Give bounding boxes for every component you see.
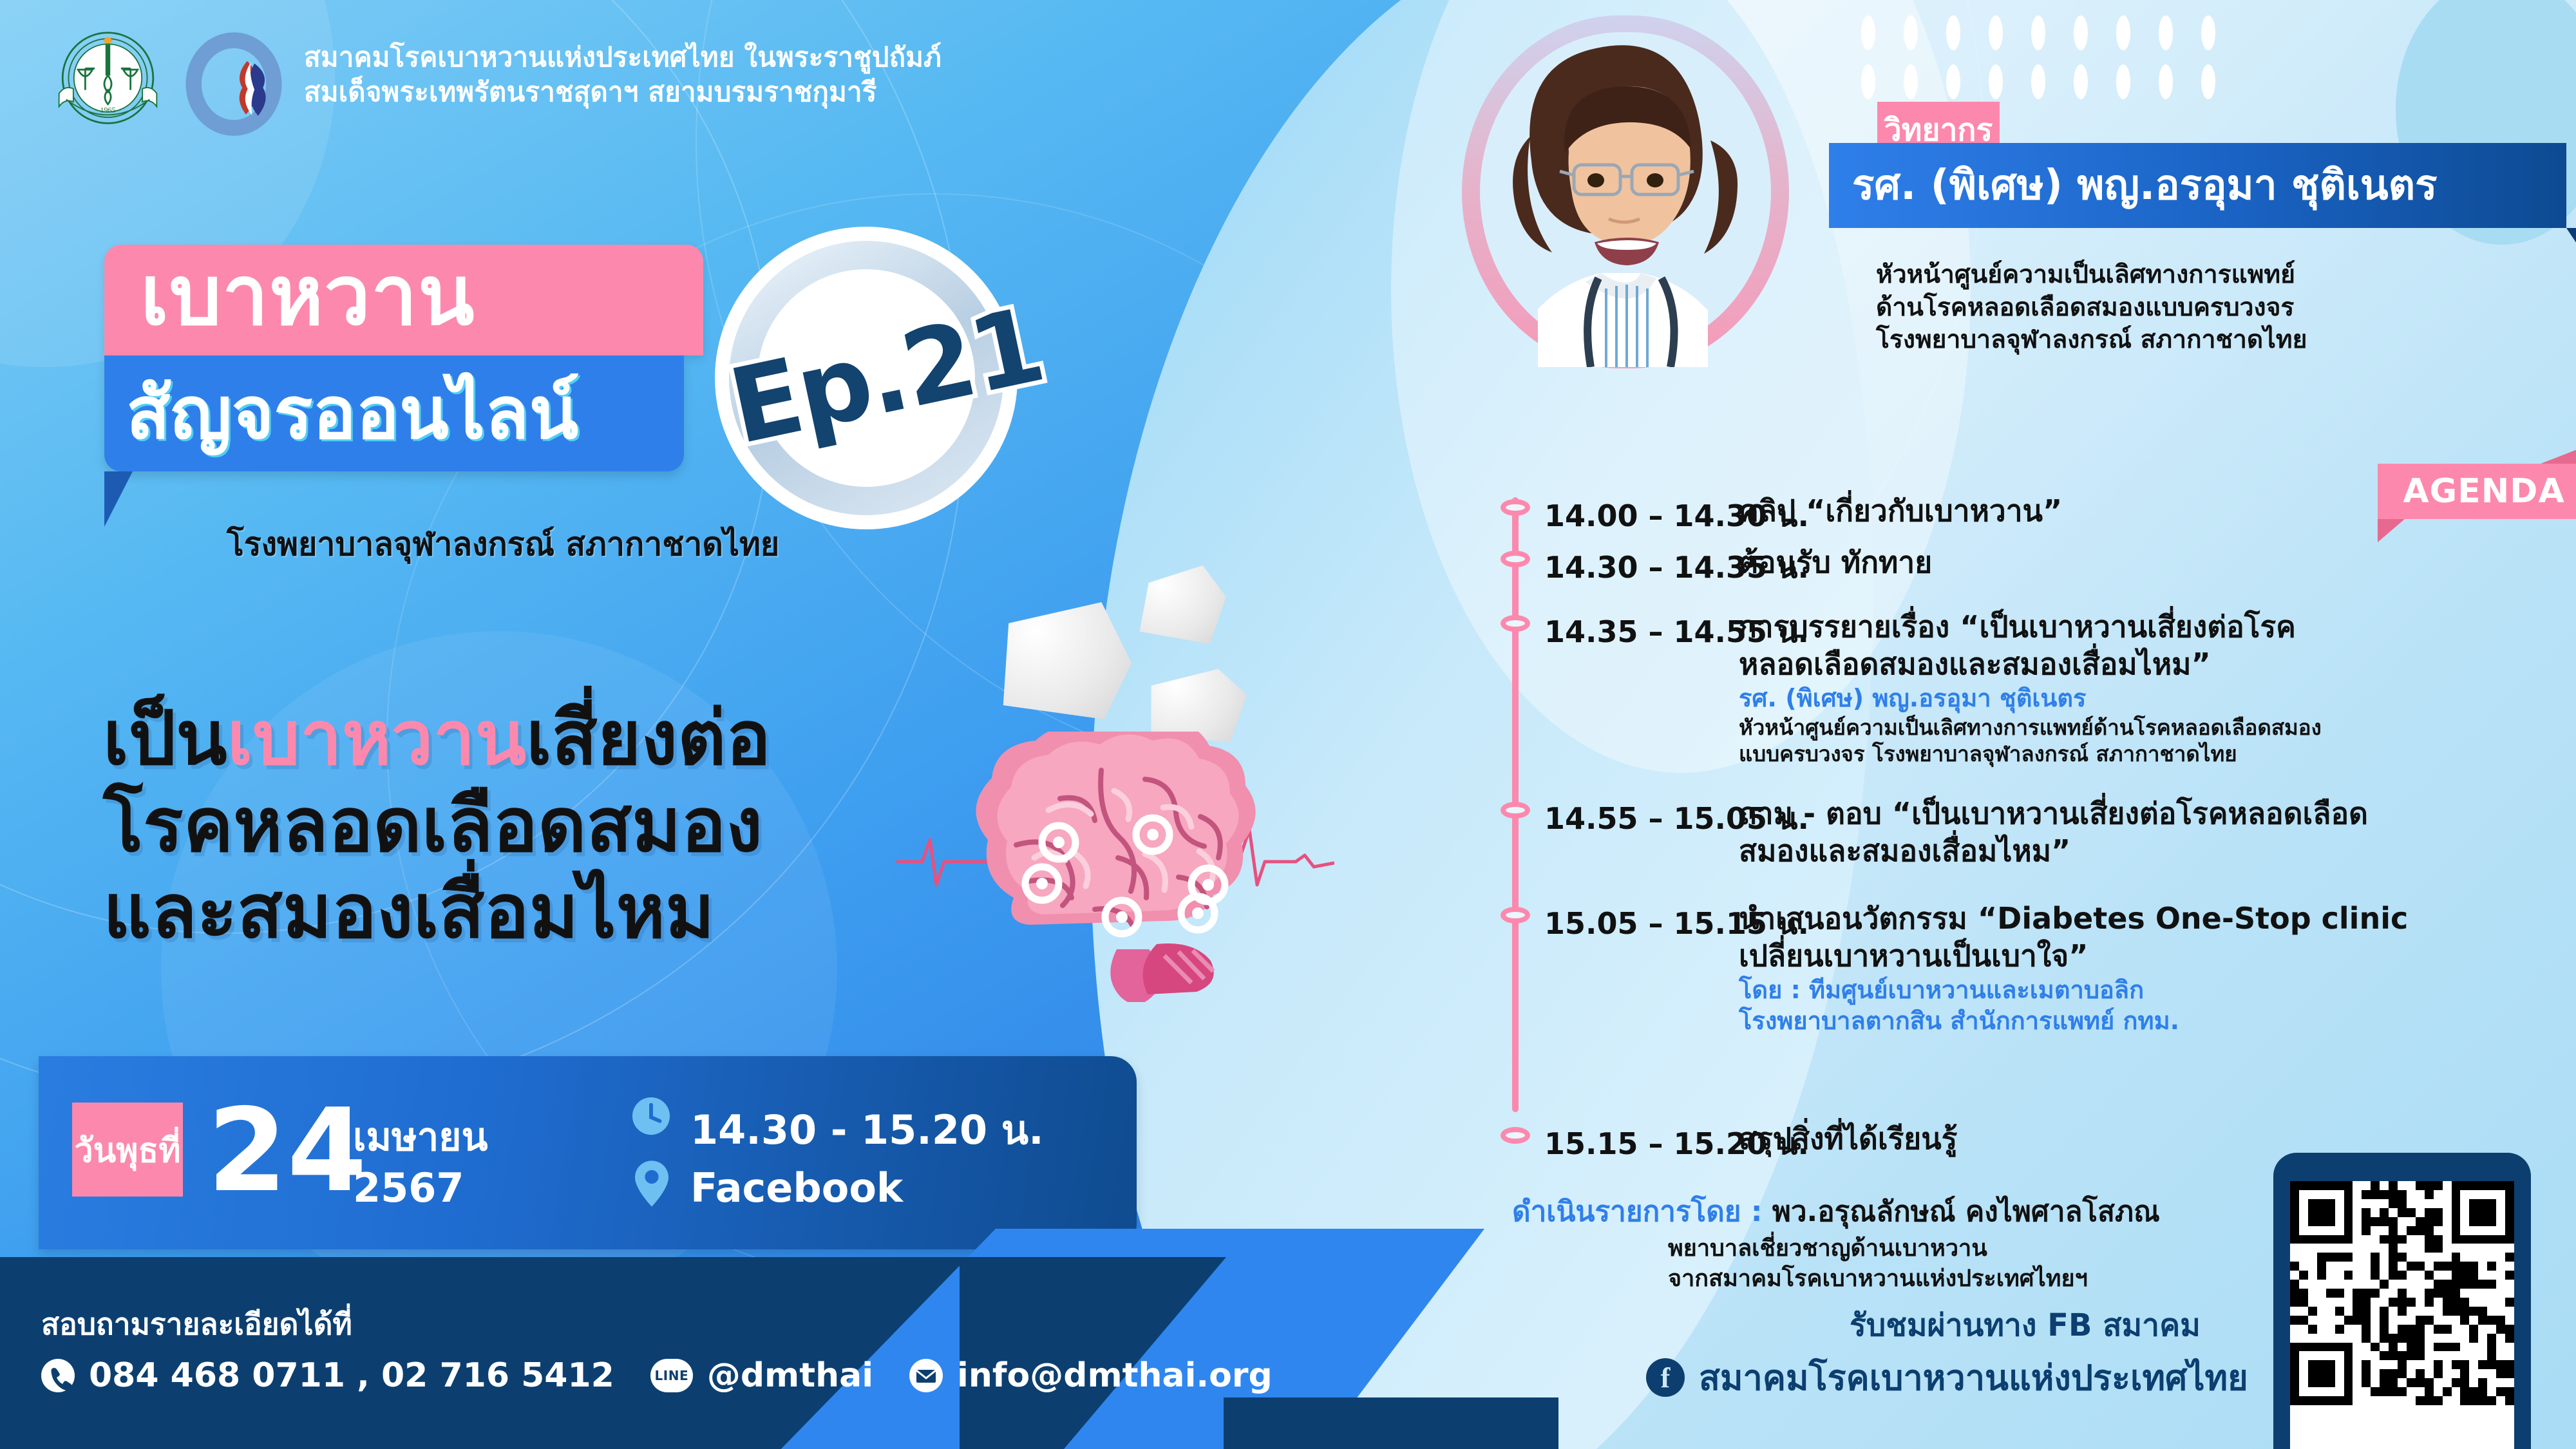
agenda-item-description-line: ถาม - ตอบ “เป็นเบาหวานเสี่ยงต่อโรคหลอดเล…	[1739, 795, 2570, 833]
speaker-credential-line3: โรงพยาบาลจุฬาลงกรณ์ สภากาชาดไทย	[1876, 324, 2565, 357]
agenda-item-description-line: หลอดเลือดสมองและสมองเสื่อมไหม”	[1739, 646, 2570, 683]
headline-seg-highlight: เบาหวาน	[227, 695, 526, 782]
agenda-timeline-dot	[1501, 1127, 1530, 1144]
agenda-item-description: คลิป “เกี่ยวกับเบาหวาน”	[1739, 493, 2570, 530]
clock-icon	[631, 1096, 671, 1136]
headline-seg-a: เป็น	[103, 695, 227, 782]
moderator-name: พว.อรุณลักษณ์ คงไพศาลโสภณ	[1772, 1195, 2160, 1228]
date-day-number: 24	[207, 1094, 367, 1208]
title-ribbon-pink: เบาหวาน	[104, 245, 703, 355]
speaker-name-banner: รศ. (พิเศษ) พญ.อรอุมา ชุติเนตร	[1829, 143, 2566, 228]
ribbon-fold-decoration	[104, 471, 133, 527]
speaker-banner-fold	[2566, 228, 2576, 263]
title-ribbon-blue: สัญจรออนไลน์	[104, 355, 684, 471]
watch-instruction: รับชมผ่านทาง FB สมาคม	[1850, 1301, 2201, 1350]
diabetes-association-logo-icon: 1965	[48, 23, 167, 142]
episode-badge: Ep.21	[715, 227, 1018, 529]
speaker-credential-line1: หัวหน้าศูนย์ความเป็นเลิศทางการแพทย์	[1876, 259, 2565, 292]
agenda-item-description-line: สมองและสมองเสื่อมไหม”	[1739, 833, 2570, 870]
poster-canvas: 1965 สมาคมโรคเบาหวานแห่งประเทศไทย ในพระร…	[0, 0, 2576, 1449]
facebook-icon: f	[1646, 1358, 1685, 1397]
decorative-dots-row	[1861, 64, 2215, 99]
headline-line-1: เป็นเบาหวานเสี่ยงต่อ	[103, 696, 1018, 782]
qr-code-inner	[2290, 1181, 2514, 1449]
agenda-timeline-dot	[1501, 499, 1530, 516]
weekday-chip: วันพุธที่	[72, 1103, 183, 1197]
contact-line-id[interactable]: @dmthai	[707, 1356, 873, 1395]
agenda-ribbon-tail-right	[2537, 444, 2576, 465]
agenda-item-description: ต้อนรับ ทักทาย	[1739, 544, 2570, 582]
qr-code-frame	[2273, 1153, 2531, 1449]
agenda-item-note-line: แบบครบวงจร โรงพยาบาลจุฬาลงกรณ์ สภากาชาดไ…	[1739, 741, 2570, 768]
phone-icon	[41, 1359, 75, 1392]
envelope-icon	[909, 1359, 943, 1392]
agenda-item-speaker-line: โดย : ทีมศูนย์เบาหวานและเมตาบอลิก	[1739, 975, 2570, 1006]
speaker-name: รศ. (พิเศษ) พญ.อรอุมา ชุติเนตร	[1852, 143, 2438, 228]
headline-line-2: โรคหลอดเลือดสมอง	[103, 782, 1018, 869]
contact-row: 084 468 0711 , 02 716 5412 LINE @dmthai …	[41, 1356, 1273, 1395]
event-platform: Facebook	[690, 1164, 903, 1211]
association-name-line2: สมเด็จพระเทพรัตนราชสุดาฯ สยามบรมราชกุมาร…	[304, 75, 1109, 109]
moderator-line: ดำเนินรายการโดย : พว.อรุณลักษณ์ คงไพศาลโ…	[1512, 1189, 2349, 1234]
diabetes-network-logo-icon	[179, 23, 289, 136]
moderator-credentials: พยาบาลเชี่ยวชาญด้านเบาหวาน จากสมาคมโรคเบ…	[1668, 1234, 2376, 1294]
contact-heading: สอบถามรายละเอียดได้ที่	[41, 1301, 352, 1348]
title-text-primary: เบาหวาน	[140, 241, 475, 352]
agenda-timeline-dot	[1501, 802, 1530, 819]
agenda-item-speaker-line: โรงพยาบาลตากสิน สำนักการแพทย์ กทม.	[1739, 1006, 2570, 1037]
association-name-line1: สมาคมโรคเบาหวานแห่งประเทศไทย ในพระราชูปถ…	[304, 40, 1109, 75]
footer-tail	[1224, 1397, 1558, 1449]
speaker-credential-line2: ด้านโรคหลอดเลือดสมองแบบครบวงจร	[1876, 292, 2565, 325]
agenda-timeline-dot	[1501, 907, 1530, 923]
event-date-bar: วันพุธที่ 24 เมษายน 2567 14.30 - 15.20 น…	[39, 1056, 1137, 1249]
agenda-item-description-line: เปลี่ยนเบาหวานเป็นเบาใจ”	[1739, 938, 2570, 975]
moderator-credential-line2: จากสมาคมโรคเบาหวานแห่งประเทศไทยฯ	[1668, 1264, 2376, 1294]
speaker-portrait-photo	[1493, 26, 1770, 367]
moderator-label: ดำเนินรายการโดย :	[1512, 1195, 1762, 1228]
moderator-credential-line1: พยาบาลเชี่ยวชาญด้านเบาหวาน	[1668, 1234, 2376, 1264]
agenda-timeline-dot	[1501, 551, 1530, 567]
brain-illustration-icon	[952, 732, 1312, 1002]
speaker-credentials: หัวหน้าศูนย์ความเป็นเลิศทางการแพทย์ ด้าน…	[1876, 259, 2565, 357]
headline-block: เป็นเบาหวานเสี่ยงต่อ โรคหลอดเลือดสมอง แล…	[103, 696, 1018, 956]
agenda-item-description-line: คลิป “เกี่ยวกับเบาหวาน”	[1739, 493, 2570, 530]
agenda-item-description-line: นำเสนอนวัตกรรม “Diabetes One-Stop clinic	[1739, 900, 2570, 938]
title-text-secondary: สัญจรออนไลน์	[126, 355, 578, 471]
headline-seg-c: เสี่ยงต่อ	[526, 695, 771, 782]
agenda-item-description: การบรรยายเรื่อง “เป็นเบาหวานเสี่ยงต่อโรค…	[1739, 609, 2570, 768]
contact-phone[interactable]: 084 468 0711 , 02 716 5412	[89, 1356, 614, 1395]
headline-line-3: และสมองเสื่อมไหม	[103, 869, 1018, 956]
facebook-page-name: สมาคมโรคเบาหวานแห่งประเทศไทย	[1699, 1350, 2248, 1405]
date-month: เมษายน	[353, 1106, 488, 1168]
facebook-page-row[interactable]: f สมาคมโรคเบาหวานแห่งประเทศไทย	[1646, 1350, 2248, 1405]
agenda-item-note-line: หัวหน้าศูนย์ความเป็นเลิศทางการแพทย์ด้านโ…	[1739, 714, 2570, 741]
association-name: สมาคมโรคเบาหวานแห่งประเทศไทย ในพระราชูปถ…	[304, 40, 1109, 109]
event-time: 14.30 - 15.20 น.	[690, 1099, 1044, 1162]
line-icon: LINE	[650, 1359, 693, 1392]
agenda-item-description-line: ต้อนรับ ทักทาย	[1739, 544, 2570, 582]
location-pin-icon	[635, 1160, 668, 1207]
qr-code[interactable]	[2290, 1181, 2514, 1405]
agenda-item-description: ถาม - ตอบ “เป็นเบาหวานเสี่ยงต่อโรคหลอดเล…	[1739, 795, 2570, 870]
agenda-item-description-line: การบรรยายเรื่อง “เป็นเบาหวานเสี่ยงต่อโรค	[1739, 609, 2570, 646]
svg-text:1965: 1965	[100, 106, 115, 115]
weekday-label: วันพุธที่	[74, 1123, 180, 1177]
agenda-item-speaker-line: รศ. (พิเศษ) พญ.อรอุมา ชุติเนตร	[1739, 683, 2570, 714]
date-year: 2567	[353, 1164, 464, 1211]
contact-email[interactable]: info@dmthai.org	[957, 1356, 1273, 1395]
host-hospital-subtitle: โรงพยาบาลจุฬาลงกรณ์ สภากาชาดไทย	[227, 519, 999, 570]
agenda-timeline-dot	[1501, 615, 1530, 632]
agenda-item-description: นำเสนอนวัตกรรม “Diabetes One-Stop clinic…	[1739, 900, 2570, 1037]
decorative-dots-row	[1861, 15, 2215, 50]
